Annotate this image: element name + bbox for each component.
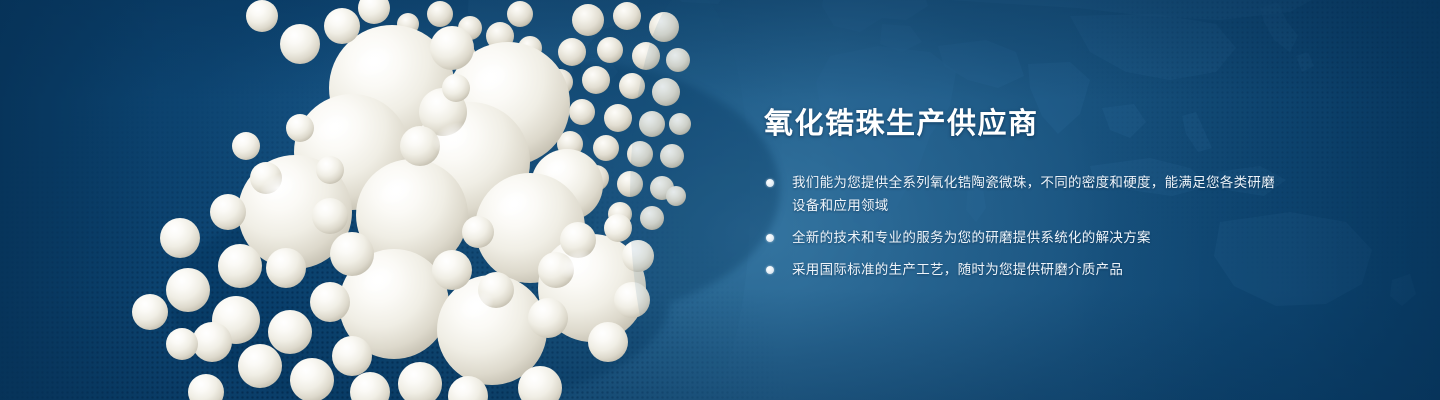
feature-bullet-list: 我们能为您提供全系列氧化锆陶瓷微珠，不同的密度和硬度，能满足您各类研磨设备和应用…: [764, 171, 1284, 281]
banner-copy: 氧化锆珠生产供应商 我们能为您提供全系列氧化锆陶瓷微珠，不同的密度和硬度，能满足…: [764, 104, 1284, 281]
list-item-text: 采用国际标准的生产工艺，随时为您提供研磨介质产品: [792, 258, 1284, 281]
list-item-text: 我们能为您提供全系列氧化锆陶瓷微珠，不同的密度和硬度，能满足您各类研磨设备和应用…: [792, 171, 1284, 217]
list-item-text: 全新的技术和专业的服务为您的研磨提供系统化的解决方案: [792, 226, 1284, 249]
list-item: 全新的技术和专业的服务为您的研磨提供系统化的解决方案: [764, 226, 1284, 249]
bullet-dot-icon: [766, 266, 774, 274]
list-item: 采用国际标准的生产工艺，随时为您提供研磨介质产品: [764, 258, 1284, 281]
bullet-dot-icon: [766, 234, 774, 242]
bullet-dot-icon: [766, 179, 774, 187]
list-item: 我们能为您提供全系列氧化锆陶瓷微珠，不同的密度和硬度，能满足您各类研磨设备和应用…: [764, 171, 1284, 217]
page-title: 氧化锆珠生产供应商: [764, 104, 1284, 144]
hero-banner: 氧化锆珠生产供应商 我们能为您提供全系列氧化锆陶瓷微珠，不同的密度和硬度，能满足…: [0, 0, 1440, 400]
